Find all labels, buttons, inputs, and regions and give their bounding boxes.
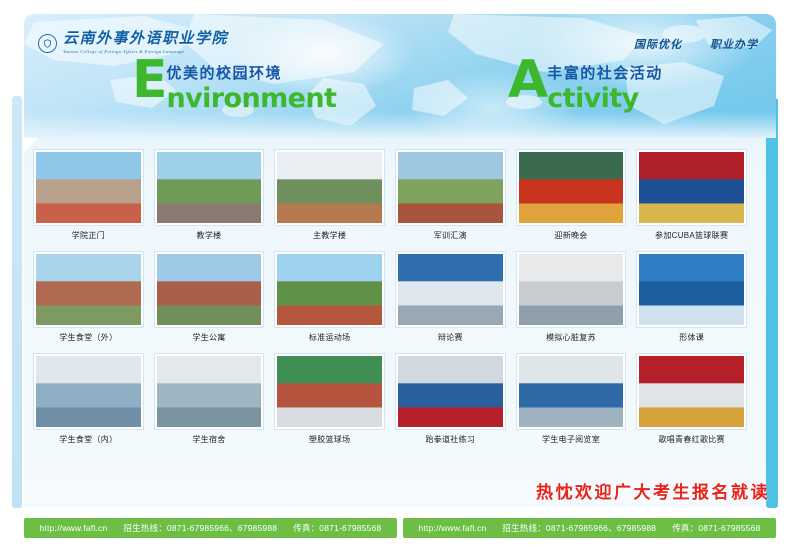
header-slogan-2: 职业办学 — [710, 36, 758, 52]
logo-name-cn: 云南外事外语职业学院 — [63, 32, 228, 47]
poster-page: 云南外事外语职业学院 Yunnan College of Foreign Aff… — [0, 0, 800, 547]
gallery-item: 辩论赛 — [396, 252, 505, 348]
gallery-caption: 教学楼 — [197, 230, 222, 241]
gallery-photo[interactable] — [34, 354, 143, 429]
gallery-item: 参加CUBA篮球联赛 — [637, 150, 746, 246]
footer-left: http://www.fafl.cn 招生热线：0871-67985966、67… — [24, 518, 397, 538]
gallery-caption: 学院正门 — [72, 230, 105, 241]
section-title-en-environment: nvironment — [167, 85, 337, 112]
section-initial-a: A — [508, 58, 546, 103]
gallery-photo[interactable] — [275, 252, 384, 327]
gallery-photo[interactable] — [517, 150, 626, 225]
gallery-item: 迎新晚会 — [517, 150, 626, 246]
shield-glyph — [43, 39, 52, 48]
footer-right: http://www.fafl.cn 招生热线：0871-67985966、67… — [403, 518, 776, 538]
shield-icon — [38, 34, 57, 53]
gallery-item: 歌唱青春红歌比赛 — [637, 354, 746, 450]
section-subtitle-cn-activity: 丰富的社会活动 — [547, 66, 663, 83]
left-edge-bar — [12, 96, 22, 508]
gallery-photo[interactable] — [637, 252, 746, 327]
footer-url-left[interactable]: http://www.fafl.cn — [40, 523, 108, 533]
gallery-item: 学生宿舍 — [155, 354, 264, 450]
gallery-photo[interactable] — [517, 252, 626, 327]
gallery-photo[interactable] — [637, 354, 746, 429]
section-subtitle-cn-environment: 优美的校园环境 — [167, 66, 337, 83]
section-title-en-activity: ctivity — [547, 85, 663, 112]
gallery-caption: 辩论赛 — [438, 332, 463, 343]
gallery-photo[interactable] — [155, 252, 264, 327]
gallery-photo[interactable] — [275, 150, 384, 225]
gallery-photo[interactable] — [34, 252, 143, 327]
gallery-caption: 学生公寓 — [192, 332, 225, 343]
gallery-item: 教学楼 — [155, 150, 264, 246]
gallery-item: 标准运动场 — [275, 252, 384, 348]
gallery-item: 学生公寓 — [155, 252, 264, 348]
gallery-caption: 标准运动场 — [309, 332, 351, 343]
gallery-item: 模拟心脏复苏 — [517, 252, 626, 348]
section-title-environment: E 优美的校园环境 nvironment — [132, 58, 336, 112]
gallery-photo[interactable] — [396, 252, 505, 327]
footer-hotline-left: 招生热线：0871-67985966、67985988 — [123, 522, 277, 534]
gallery-caption: 迎新晚会 — [554, 230, 587, 241]
gallery-photo[interactable] — [155, 354, 264, 429]
gallery-photo[interactable] — [34, 150, 143, 225]
gallery-caption: 学生电子阅览室 — [542, 434, 600, 445]
gallery-photo[interactable] — [275, 354, 384, 429]
gallery-caption: 学生食堂（内） — [59, 434, 117, 445]
gallery-photo[interactable] — [637, 150, 746, 225]
gallery-caption: 主教学楼 — [313, 230, 346, 241]
footer-fax-right: 传真：0871-67985568 — [672, 522, 760, 534]
gallery-caption: 歌唱青春红歌比赛 — [658, 434, 724, 445]
gallery-caption: 跆拳道社练习 — [425, 434, 475, 445]
right-edge-bar — [766, 98, 778, 508]
gallery-photo[interactable] — [396, 354, 505, 429]
header-slogans: 国际优化 职业办学 — [634, 36, 758, 52]
gallery-caption: 学生宿舍 — [192, 434, 225, 445]
gallery-caption: 学生食堂（外） — [59, 332, 117, 343]
gallery-item: 形体课 — [637, 252, 746, 348]
gallery-caption: 形体课 — [679, 332, 704, 343]
gallery-item: 学院正门 — [34, 150, 143, 246]
footer-hotline-right: 招生热线：0871-67985966、67985988 — [502, 522, 656, 534]
gallery-item: 主教学楼 — [275, 150, 384, 246]
gallery-caption: 模拟心脏复苏 — [546, 332, 596, 343]
footer-fax-left: 传真：0871-67985568 — [293, 522, 381, 534]
gallery-item: 塑胶篮球场 — [275, 354, 384, 450]
gallery-photo[interactable] — [155, 150, 264, 225]
gallery-caption: 军训汇演 — [434, 230, 467, 241]
gallery-item: 军训汇演 — [396, 150, 505, 246]
photo-gallery-grid: 学院正门教学楼主教学楼军训汇演迎新晚会参加CUBA篮球联赛学生食堂（外）学生公寓… — [34, 150, 746, 450]
gallery-item: 学生食堂（内） — [34, 354, 143, 450]
gallery-photo[interactable] — [517, 354, 626, 429]
welcome-slogan: 热忱欢迎广大考生报名就读 — [536, 478, 770, 503]
section-initial-e: E — [132, 58, 166, 103]
gallery-item: 学生电子阅览室 — [517, 354, 626, 450]
gallery-caption: 参加CUBA篮球联赛 — [655, 230, 728, 241]
gallery-photo[interactable] — [396, 150, 505, 225]
section-title-activity: A 丰富的社会活动 ctivity — [508, 58, 663, 112]
gallery-item: 跆拳道社练习 — [396, 354, 505, 450]
header-bottom-fade — [24, 112, 776, 138]
footer-url-right[interactable]: http://www.fafl.cn — [419, 523, 487, 533]
footer-bars: http://www.fafl.cn 招生热线：0871-67985966、67… — [24, 518, 776, 538]
header-slogan-1: 国际优化 — [634, 36, 682, 52]
gallery-item: 学生食堂（外） — [34, 252, 143, 348]
gallery-caption: 塑胶篮球场 — [309, 434, 351, 445]
